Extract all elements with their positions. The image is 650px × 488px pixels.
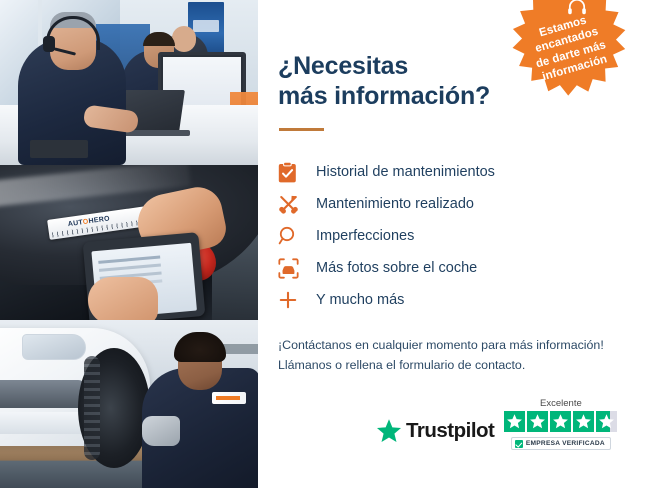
ruler-brand-prefix: AUT xyxy=(67,219,83,228)
car-grille xyxy=(0,380,86,408)
feature-item-much-more: Y mucho más xyxy=(278,284,626,316)
checklist-document-icon xyxy=(278,162,304,183)
photo-call-center-agents-with-headsets xyxy=(0,0,258,165)
desk-tablet xyxy=(30,140,88,158)
contact-line-1: ¡Contáctanos en cualquier momento para m… xyxy=(278,336,626,356)
page-title-line-1: ¿Necesitas xyxy=(278,52,408,80)
plus-icon xyxy=(278,290,304,310)
page-title-line-2: más información? xyxy=(278,82,490,110)
magnifier-icon xyxy=(278,226,304,246)
rating-star-5-partial xyxy=(596,411,617,432)
inspector-hand-lower xyxy=(88,277,158,320)
feature-label: Y mucho más xyxy=(316,292,404,308)
trustpilot-star-icon xyxy=(376,418,402,444)
trustpilot-rating-label: Excelente xyxy=(540,398,582,409)
feature-label: Imperfecciones xyxy=(316,228,414,244)
car-headlight xyxy=(22,334,86,360)
trustpilot-star-rating xyxy=(504,411,617,432)
title-underline-rule xyxy=(279,128,324,131)
content-panel: ¿Necesitas más información? Estamos enca… xyxy=(258,0,650,488)
rating-star-2 xyxy=(527,411,548,432)
contact-line-2: Llámanos o rellena el formulario de cont… xyxy=(278,356,626,376)
mechanic-glove xyxy=(142,416,180,446)
feature-item-maintenance-history: Historial de mantenimientos xyxy=(278,156,626,188)
feature-label: Mantenimiento realizado xyxy=(316,196,474,212)
feature-label: Historial de mantenimientos xyxy=(316,164,495,180)
feature-label: Más fotos sobre el coche xyxy=(316,260,477,276)
support-starburst-badge: Estamos encantados de darte más informac… xyxy=(505,0,633,111)
contact-paragraph: ¡Contáctanos en cualquier momento para m… xyxy=(278,336,626,376)
photo-car-inspection-with-ruler-and-tablet: AUTOHERO xyxy=(0,165,258,320)
promo-card: AUTOHERO xyxy=(0,0,650,488)
crossed-tools-icon xyxy=(278,194,304,215)
feature-item-more-photos: Más fotos sobre el coche xyxy=(278,252,626,284)
car-photo-frame-icon xyxy=(278,258,304,279)
verified-check-icon xyxy=(515,440,523,448)
trustpilot-wordmark: Trustpilot xyxy=(406,419,494,443)
photo-collage: AUTOHERO xyxy=(0,0,258,488)
feature-item-maintenance-done: Mantenimiento realizado xyxy=(278,188,626,220)
car-wheel-tyre xyxy=(78,348,150,468)
trustpilot-rating-block[interactable]: Trustpilot Excelente xyxy=(376,398,617,450)
background-agent-head xyxy=(172,26,196,52)
page-title: ¿Necesitas más información? xyxy=(278,52,508,111)
rating-star-3 xyxy=(550,411,571,432)
verified-company-label: EMPRESA VERIFICADA xyxy=(526,440,605,447)
mechanic-uniform-logo xyxy=(212,392,246,404)
feature-item-imperfections: Imperfecciones xyxy=(278,220,626,252)
trustpilot-logo[interactable]: Trustpilot xyxy=(376,418,494,450)
photo-mechanic-checking-wheel xyxy=(0,320,258,488)
rating-star-4 xyxy=(573,411,594,432)
tyre-tread xyxy=(84,356,100,460)
rating-star-1 xyxy=(504,411,525,432)
trustpilot-score: Excelente xyxy=(504,398,617,450)
verified-company-badge: EMPRESA VERIFICADA xyxy=(511,437,611,450)
feature-list: Historial de mantenimientos Mantenimient… xyxy=(278,156,626,316)
